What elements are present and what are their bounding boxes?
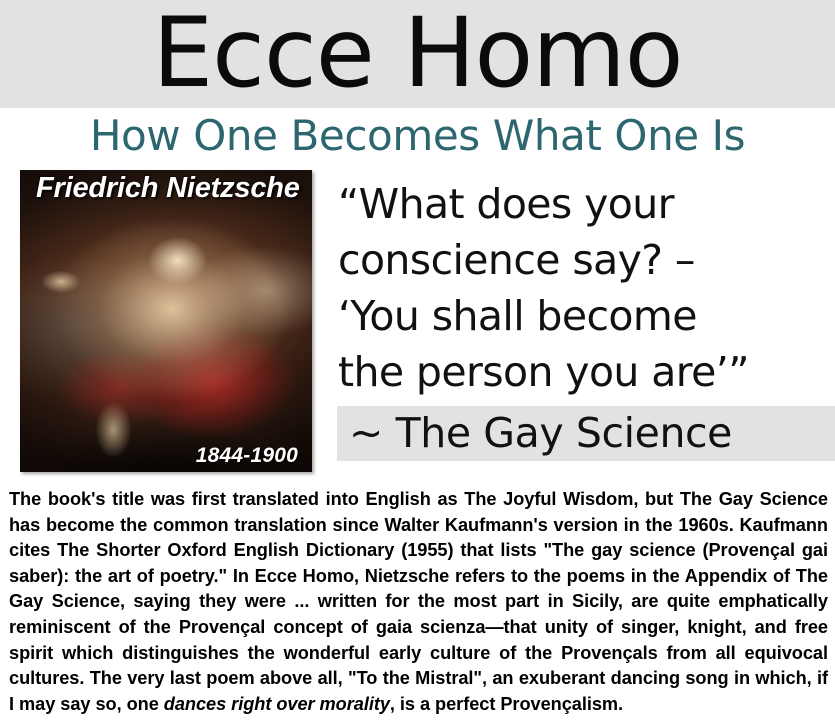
portrait-painting-image — [20, 170, 312, 472]
portrait-dates-label: 1844-1900 — [196, 444, 298, 468]
body-text-emphasis: dances right over morality — [164, 694, 390, 714]
page-subtitle: How One Becomes What One Is — [0, 110, 835, 162]
body-text-part-1: The book's title was first translated in… — [9, 489, 828, 714]
quote-attribution-band: ~ The Gay Science — [337, 406, 835, 461]
quote-attribution-label: ~ The Gay Science — [349, 406, 732, 461]
quote-block: “What does your conscience say? – ‘You s… — [338, 176, 835, 400]
body-paragraph: The book's title was first translated in… — [9, 487, 828, 717]
quote-line: the person you are’” — [338, 344, 835, 400]
body-text-part-2: , is a perfect Provençalism. — [390, 694, 623, 714]
quote-line: conscience say? – — [338, 232, 835, 288]
quote-line: “What does your — [338, 176, 835, 232]
quote-line: ‘You shall become — [338, 288, 835, 344]
page-title: Ecce Homo — [0, 0, 835, 112]
title-band: Ecce Homo — [0, 0, 835, 108]
portrait-card: Friedrich Nietzsche 1844-1900 — [20, 170, 312, 472]
portrait-name-label: Friedrich Nietzsche — [36, 172, 300, 205]
